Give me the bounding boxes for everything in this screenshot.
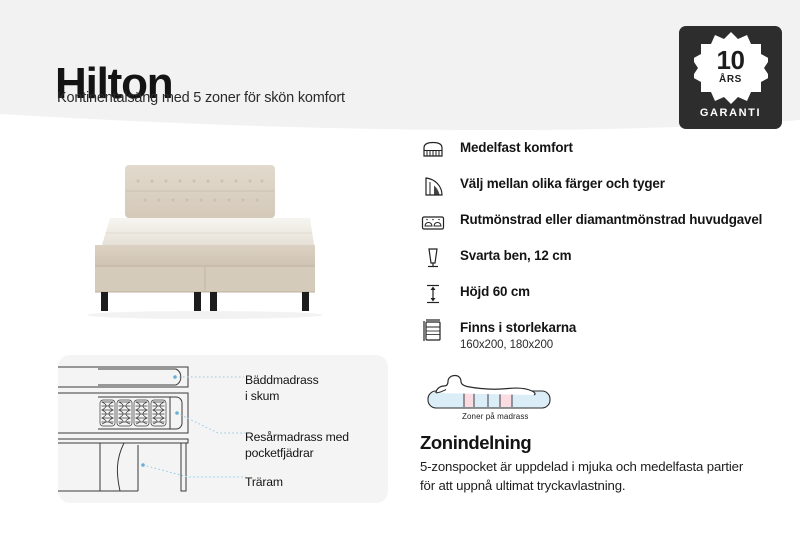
starburst-icon: 10 ÅRS [694, 31, 768, 105]
cross-label-foam-mattress: Bäddmadrass i skum [245, 373, 319, 404]
guarantee-badge: 10 ÅRS GARANTI [679, 26, 782, 129]
headboard-icon [420, 210, 446, 234]
cross-label-line: i skum [245, 389, 319, 405]
cross-label-line: Resårmadrass med [245, 430, 349, 446]
height-arrow-icon [420, 282, 446, 306]
feature-item-comfort: Medelfast komfort [420, 138, 790, 162]
feature-item-height: Höjd 60 cm [420, 282, 790, 306]
feature-label: Rutmönstrad eller diamantmönstrad huvudg… [460, 212, 762, 229]
badge-label: GARANTI [700, 107, 761, 119]
fabric-swatch-icon [420, 174, 446, 198]
badge-years: ÅRS [694, 74, 768, 85]
zone-illustration [422, 365, 562, 418]
cross-label-line: pocketfjädrar [245, 446, 349, 462]
mattress-springs-icon [420, 138, 446, 162]
zone-caption: Zoner på madrass [462, 412, 529, 421]
bed-size-icon [420, 318, 446, 342]
feature-item-fabrics: Välj mellan olika färger och tyger [420, 174, 790, 198]
badge-number: 10 [694, 45, 768, 76]
feature-label: Medelfast komfort [460, 140, 573, 157]
feature-label: Svarta ben, 12 cm [460, 248, 571, 265]
feature-list: Medelfast komfort Välj mellan olika färg… [420, 138, 790, 363]
zone-title: Zonindelning [420, 432, 531, 454]
feature-sublabel: 160x200, 180x200 [460, 339, 576, 351]
feature-item-legs: Svarta ben, 12 cm [420, 246, 790, 270]
zone-body-text: 5-zonspocket är uppdelad i mjuka och med… [420, 458, 760, 495]
product-infographic: Hilton Kontinentalsäng med 5 zoner för s… [0, 0, 800, 533]
cross-label-line: Bäddmadrass [245, 373, 319, 389]
feature-item-sizes: Finns i storlekarna 160x200, 180x200 [420, 318, 790, 351]
bed-photo [62, 145, 362, 335]
feature-item-headboard: Rutmönstrad eller diamantmönstrad huvudg… [420, 210, 790, 234]
feature-label: Välj mellan olika färger och tyger [460, 176, 665, 193]
page-subtitle: Kontinentalsäng med 5 zoner för skön kom… [57, 90, 345, 106]
feature-label: Finns i storlekarna [460, 320, 576, 337]
cross-label-spring-mattress: Resårmadrass med pocketfjädrar [245, 430, 349, 461]
feature-label: Höjd 60 cm [460, 284, 530, 301]
cross-label-wood-frame: Träram [245, 475, 283, 491]
bed-leg-icon [420, 246, 446, 270]
